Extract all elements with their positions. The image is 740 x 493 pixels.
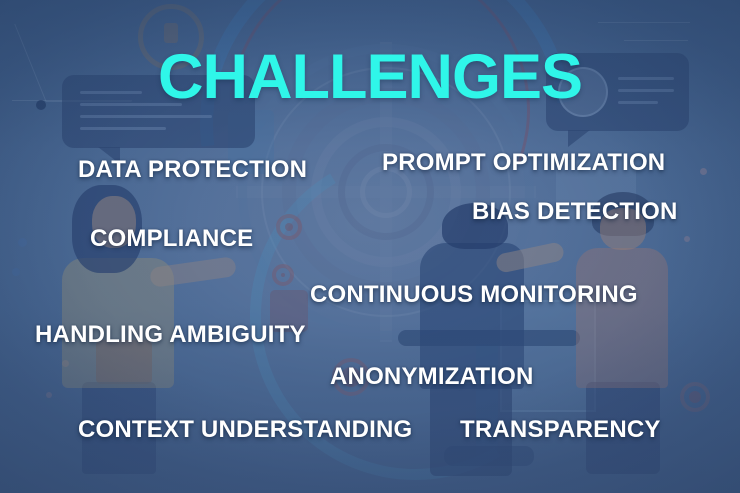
label-prompt-optimization: PROMPT OPTIMIZATION xyxy=(382,151,665,175)
label-context-understanding: CONTEXT UNDERSTANDING xyxy=(78,418,412,442)
label-anonymization: ANONYMIZATION xyxy=(330,365,533,389)
label-transparency: TRANSPARENCY xyxy=(460,418,661,442)
label-data-protection: DATA PROTECTION xyxy=(78,158,307,182)
label-bias-detection: BIAS DETECTION xyxy=(472,200,677,224)
page-title: CHALLENGES xyxy=(0,46,740,109)
label-continuous-monitoring: CONTINUOUS MONITORING xyxy=(310,283,638,307)
label-compliance: COMPLIANCE xyxy=(90,227,253,251)
challenges-banner: CHALLENGES DATA PROTECTION PROMPT OPTIMI… xyxy=(0,0,740,493)
label-handling-ambiguity: HANDLING AMBIGUITY xyxy=(35,323,306,347)
